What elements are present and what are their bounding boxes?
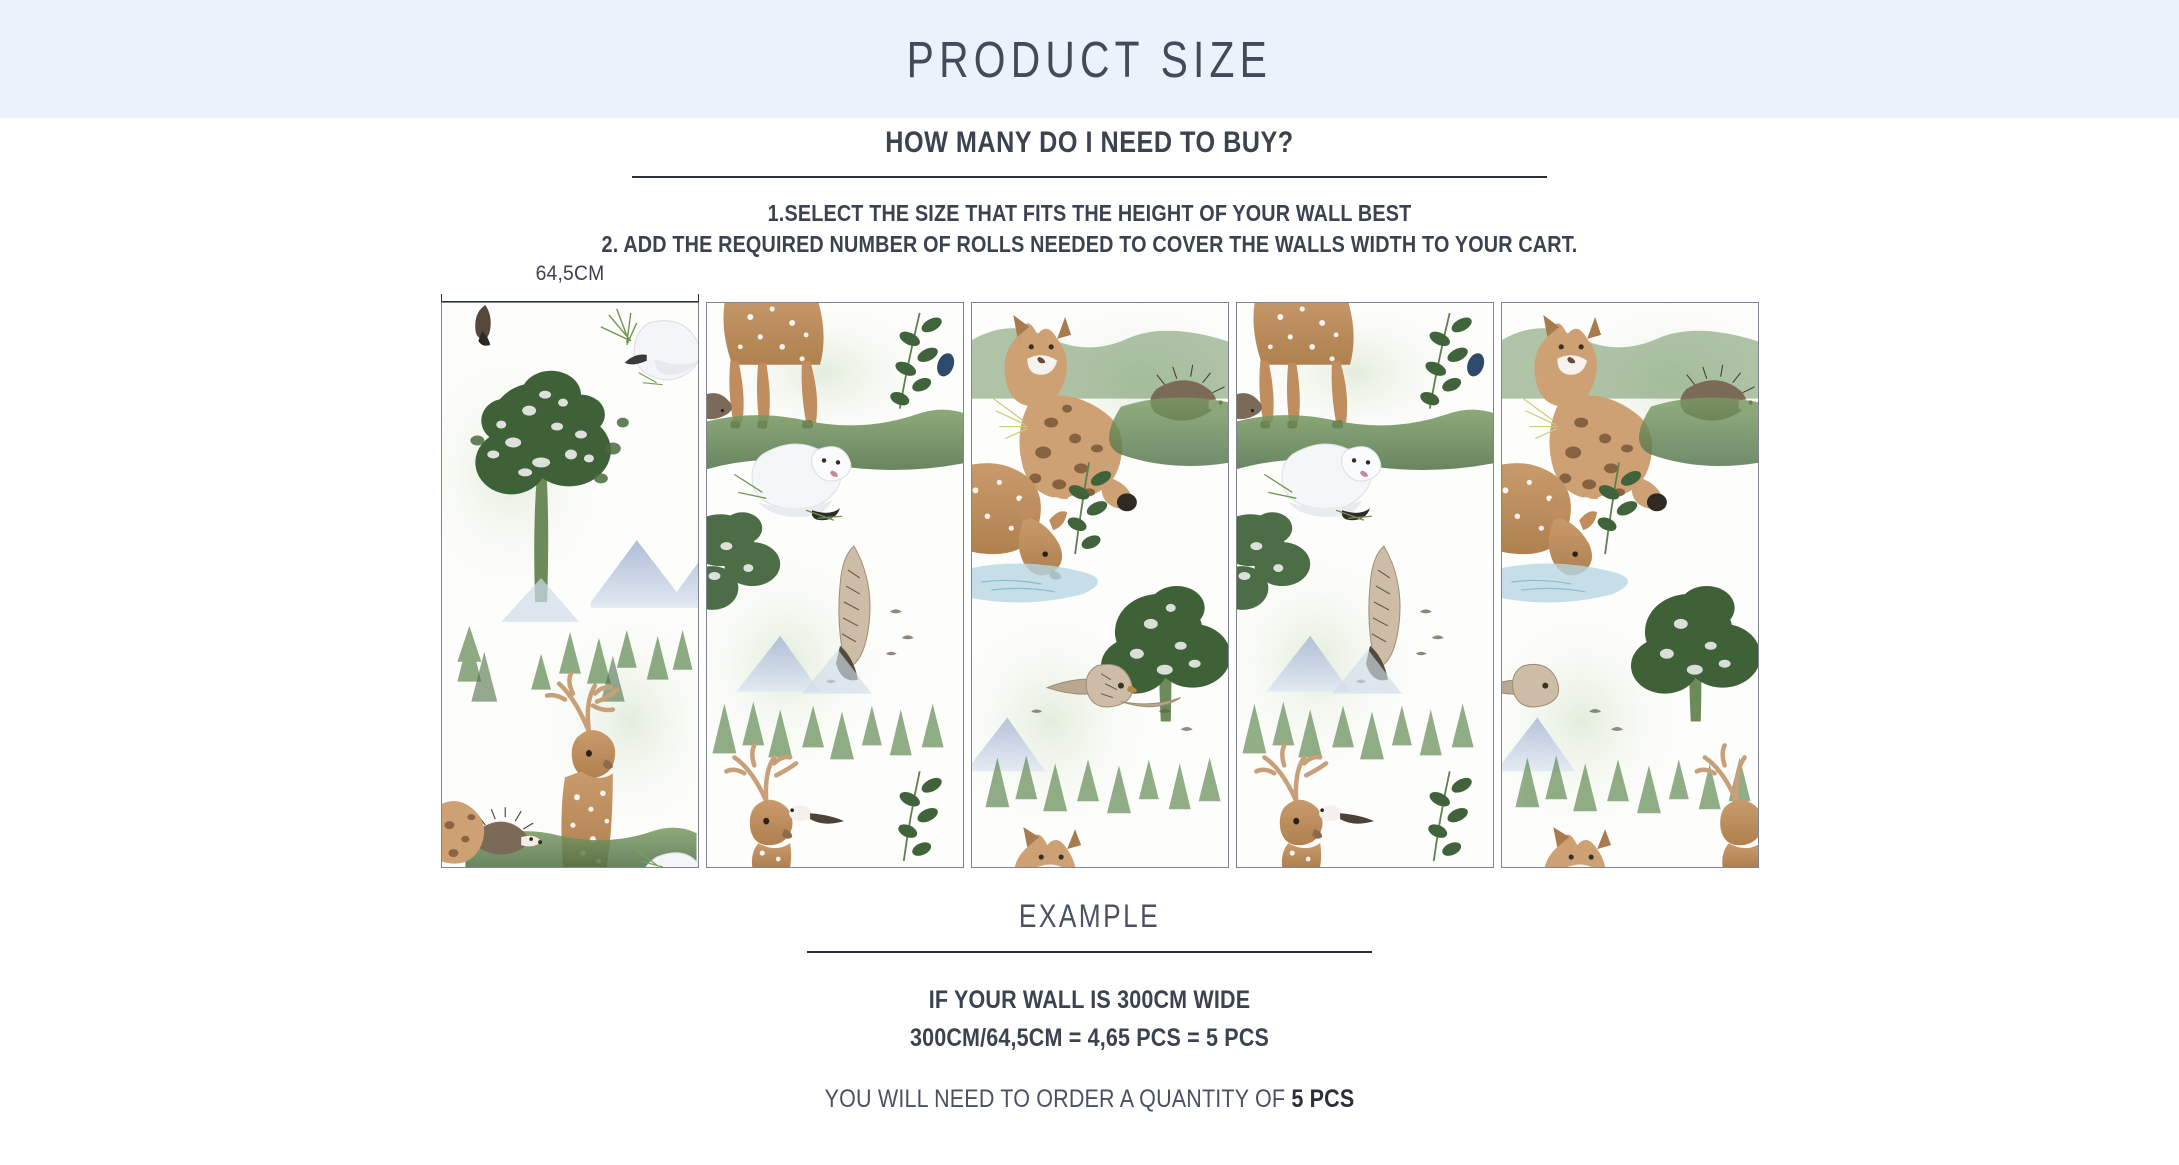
instructions-heading: HOW MANY DO I NEED TO BUY? <box>174 126 2004 160</box>
example-calculation: 300CM/64,5CM = 4,65 PCS = 5 PCS <box>153 1019 2027 1057</box>
pattern-roll-2 <box>707 303 963 867</box>
pattern-roll-5 <box>1502 303 1758 867</box>
example-result-value: 5 PCS <box>1291 1085 1354 1113</box>
pattern-roll-3 <box>972 303 1228 867</box>
product-size-page: PRODUCT SIZE HOW MANY DO I NEED TO BUY? … <box>0 0 2179 1165</box>
example-block: EXAMPLE IF YOUR WALL IS 300CM WIDE 300CM… <box>0 898 2179 1114</box>
example-wall-width: IF YOUR WALL IS 300CM WIDE <box>153 981 2027 1019</box>
example-result-prefix: YOU WILL NEED TO ORDER A QUANTITY OF <box>825 1085 1292 1113</box>
header-band: PRODUCT SIZE <box>0 0 2179 118</box>
roll-width-label: 64,5CM <box>451 262 688 286</box>
heading-divider <box>632 176 1547 178</box>
wallpaper-panel-roll-2[interactable] <box>706 302 964 868</box>
instructions-block: HOW MANY DO I NEED TO BUY? 1.SELECT THE … <box>0 126 2179 260</box>
instruction-step-2: 2. ADD THE REQUIRED NUMBER OF ROLLS NEED… <box>153 229 2027 260</box>
wallpaper-panel-roll-3[interactable] <box>971 302 1229 868</box>
pattern-roll-1 <box>442 303 698 867</box>
wallpaper-panel-roll-4[interactable] <box>1236 302 1494 868</box>
wallpaper-panel-roll-5[interactable] <box>1501 302 1759 868</box>
wallpaper-roll-strip <box>441 302 1759 868</box>
example-result: YOU WILL NEED TO ORDER A QUANTITY OF 5 P… <box>153 1085 2027 1114</box>
example-divider <box>807 951 1372 953</box>
example-body: IF YOUR WALL IS 300CM WIDE 300CM/64,5CM … <box>0 981 2179 1114</box>
instruction-steps: 1.SELECT THE SIZE THAT FITS THE HEIGHT O… <box>0 198 2179 260</box>
pattern-roll-4 <box>1237 303 1493 867</box>
example-heading: EXAMPLE <box>196 898 1983 935</box>
page-title: PRODUCT SIZE <box>907 30 1272 89</box>
wallpaper-panel-roll-1[interactable] <box>441 302 699 868</box>
instruction-step-1: 1.SELECT THE SIZE THAT FITS THE HEIGHT O… <box>153 198 2027 229</box>
